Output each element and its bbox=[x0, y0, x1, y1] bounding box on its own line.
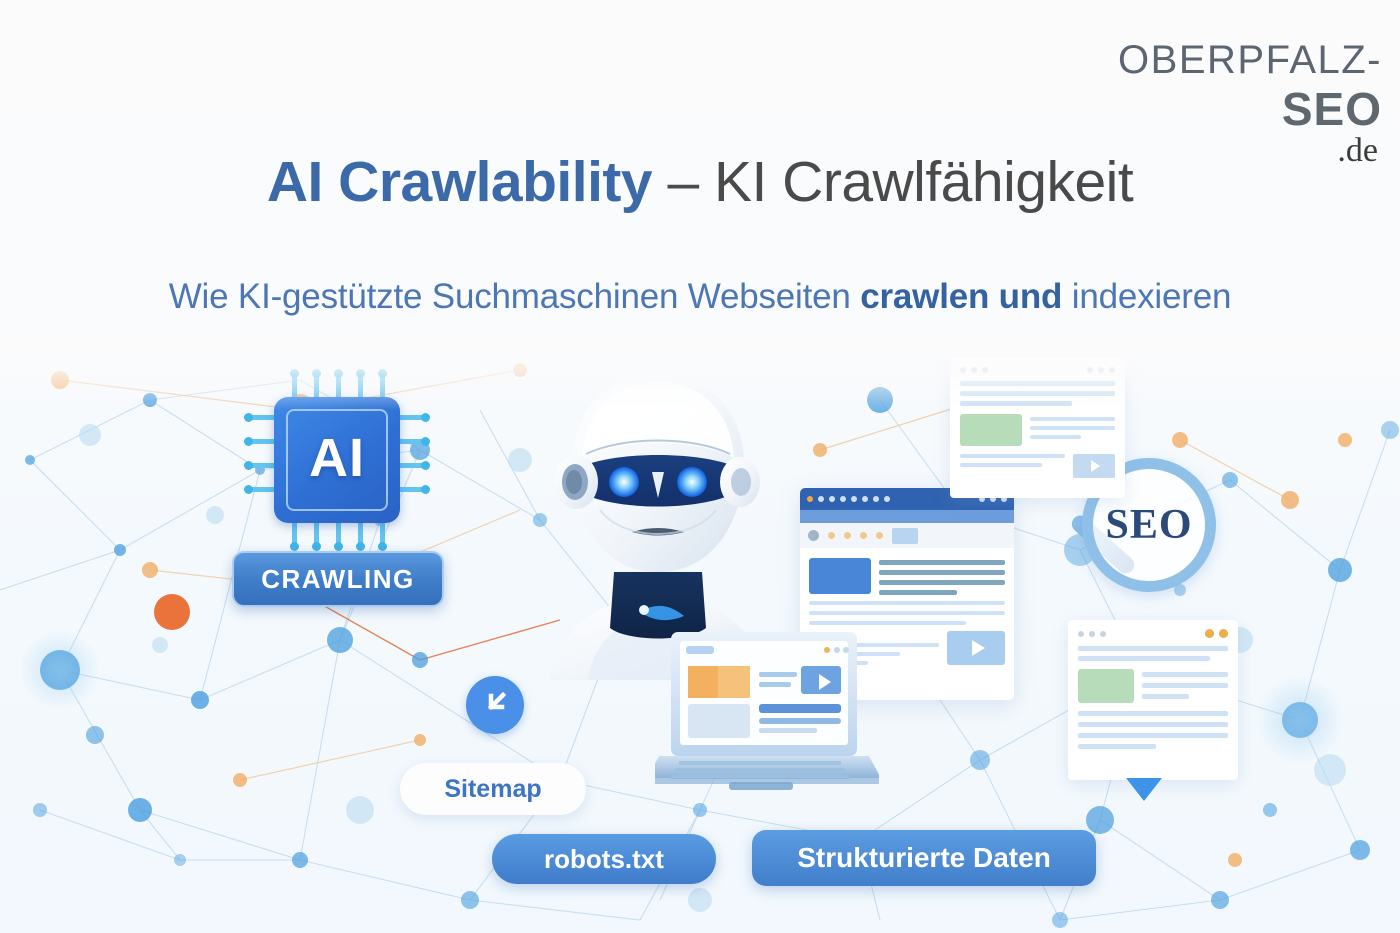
robot-eye-left bbox=[609, 467, 639, 497]
laptop-icon bbox=[655, 628, 879, 798]
label-crawling[interactable]: CRAWLING bbox=[232, 551, 444, 607]
logo-line-oberpfalz: OBERPFALZ- bbox=[1118, 40, 1382, 80]
document-card bbox=[1068, 620, 1238, 780]
arrow-down-left-icon bbox=[466, 676, 524, 734]
label-sitemap-text: Sitemap bbox=[400, 763, 586, 815]
robot-eye-right bbox=[677, 467, 707, 497]
page-subtitle: Wie KI-gestützte Suchmaschinen Webseiten… bbox=[0, 277, 1400, 317]
label-crawling-text: CRAWLING bbox=[232, 551, 444, 607]
label-structured-data-text: Strukturierte Daten bbox=[752, 830, 1096, 886]
page-title: AI Crawlability – KI Crawlfähigkeit bbox=[0, 152, 1400, 214]
title-highlight: AI Crawlability bbox=[267, 150, 652, 214]
bubble-tail bbox=[1126, 778, 1162, 801]
ai-chip-icon: AI bbox=[252, 375, 422, 545]
document-card bbox=[950, 358, 1125, 498]
accent-node bbox=[154, 594, 190, 630]
subtitle-bold: crawlen und bbox=[860, 277, 1062, 316]
subtitle-part-1: Wie KI-gestützte Suchmaschinen Webseiten bbox=[169, 277, 861, 316]
label-robots-txt[interactable]: robots.txt bbox=[492, 834, 716, 884]
label-sitemap[interactable]: Sitemap bbox=[400, 763, 586, 815]
label-structured-data[interactable]: Strukturierte Daten bbox=[752, 830, 1096, 886]
illustration: AI CRAWLING bbox=[0, 340, 1400, 933]
label-robots-txt-text: robots.txt bbox=[492, 834, 716, 884]
subtitle-part-2: indexieren bbox=[1062, 277, 1231, 316]
poster-canvas: OBERPFALZ- SEO .de AI Crawlability – KI … bbox=[0, 0, 1400, 933]
title-rest: – KI Crawlfähigkeit bbox=[652, 150, 1133, 214]
brand-logo[interactable]: OBERPFALZ- SEO .de bbox=[1118, 40, 1382, 168]
chip-label: AI bbox=[274, 427, 400, 489]
logo-line-seo: SEO bbox=[1118, 86, 1382, 132]
